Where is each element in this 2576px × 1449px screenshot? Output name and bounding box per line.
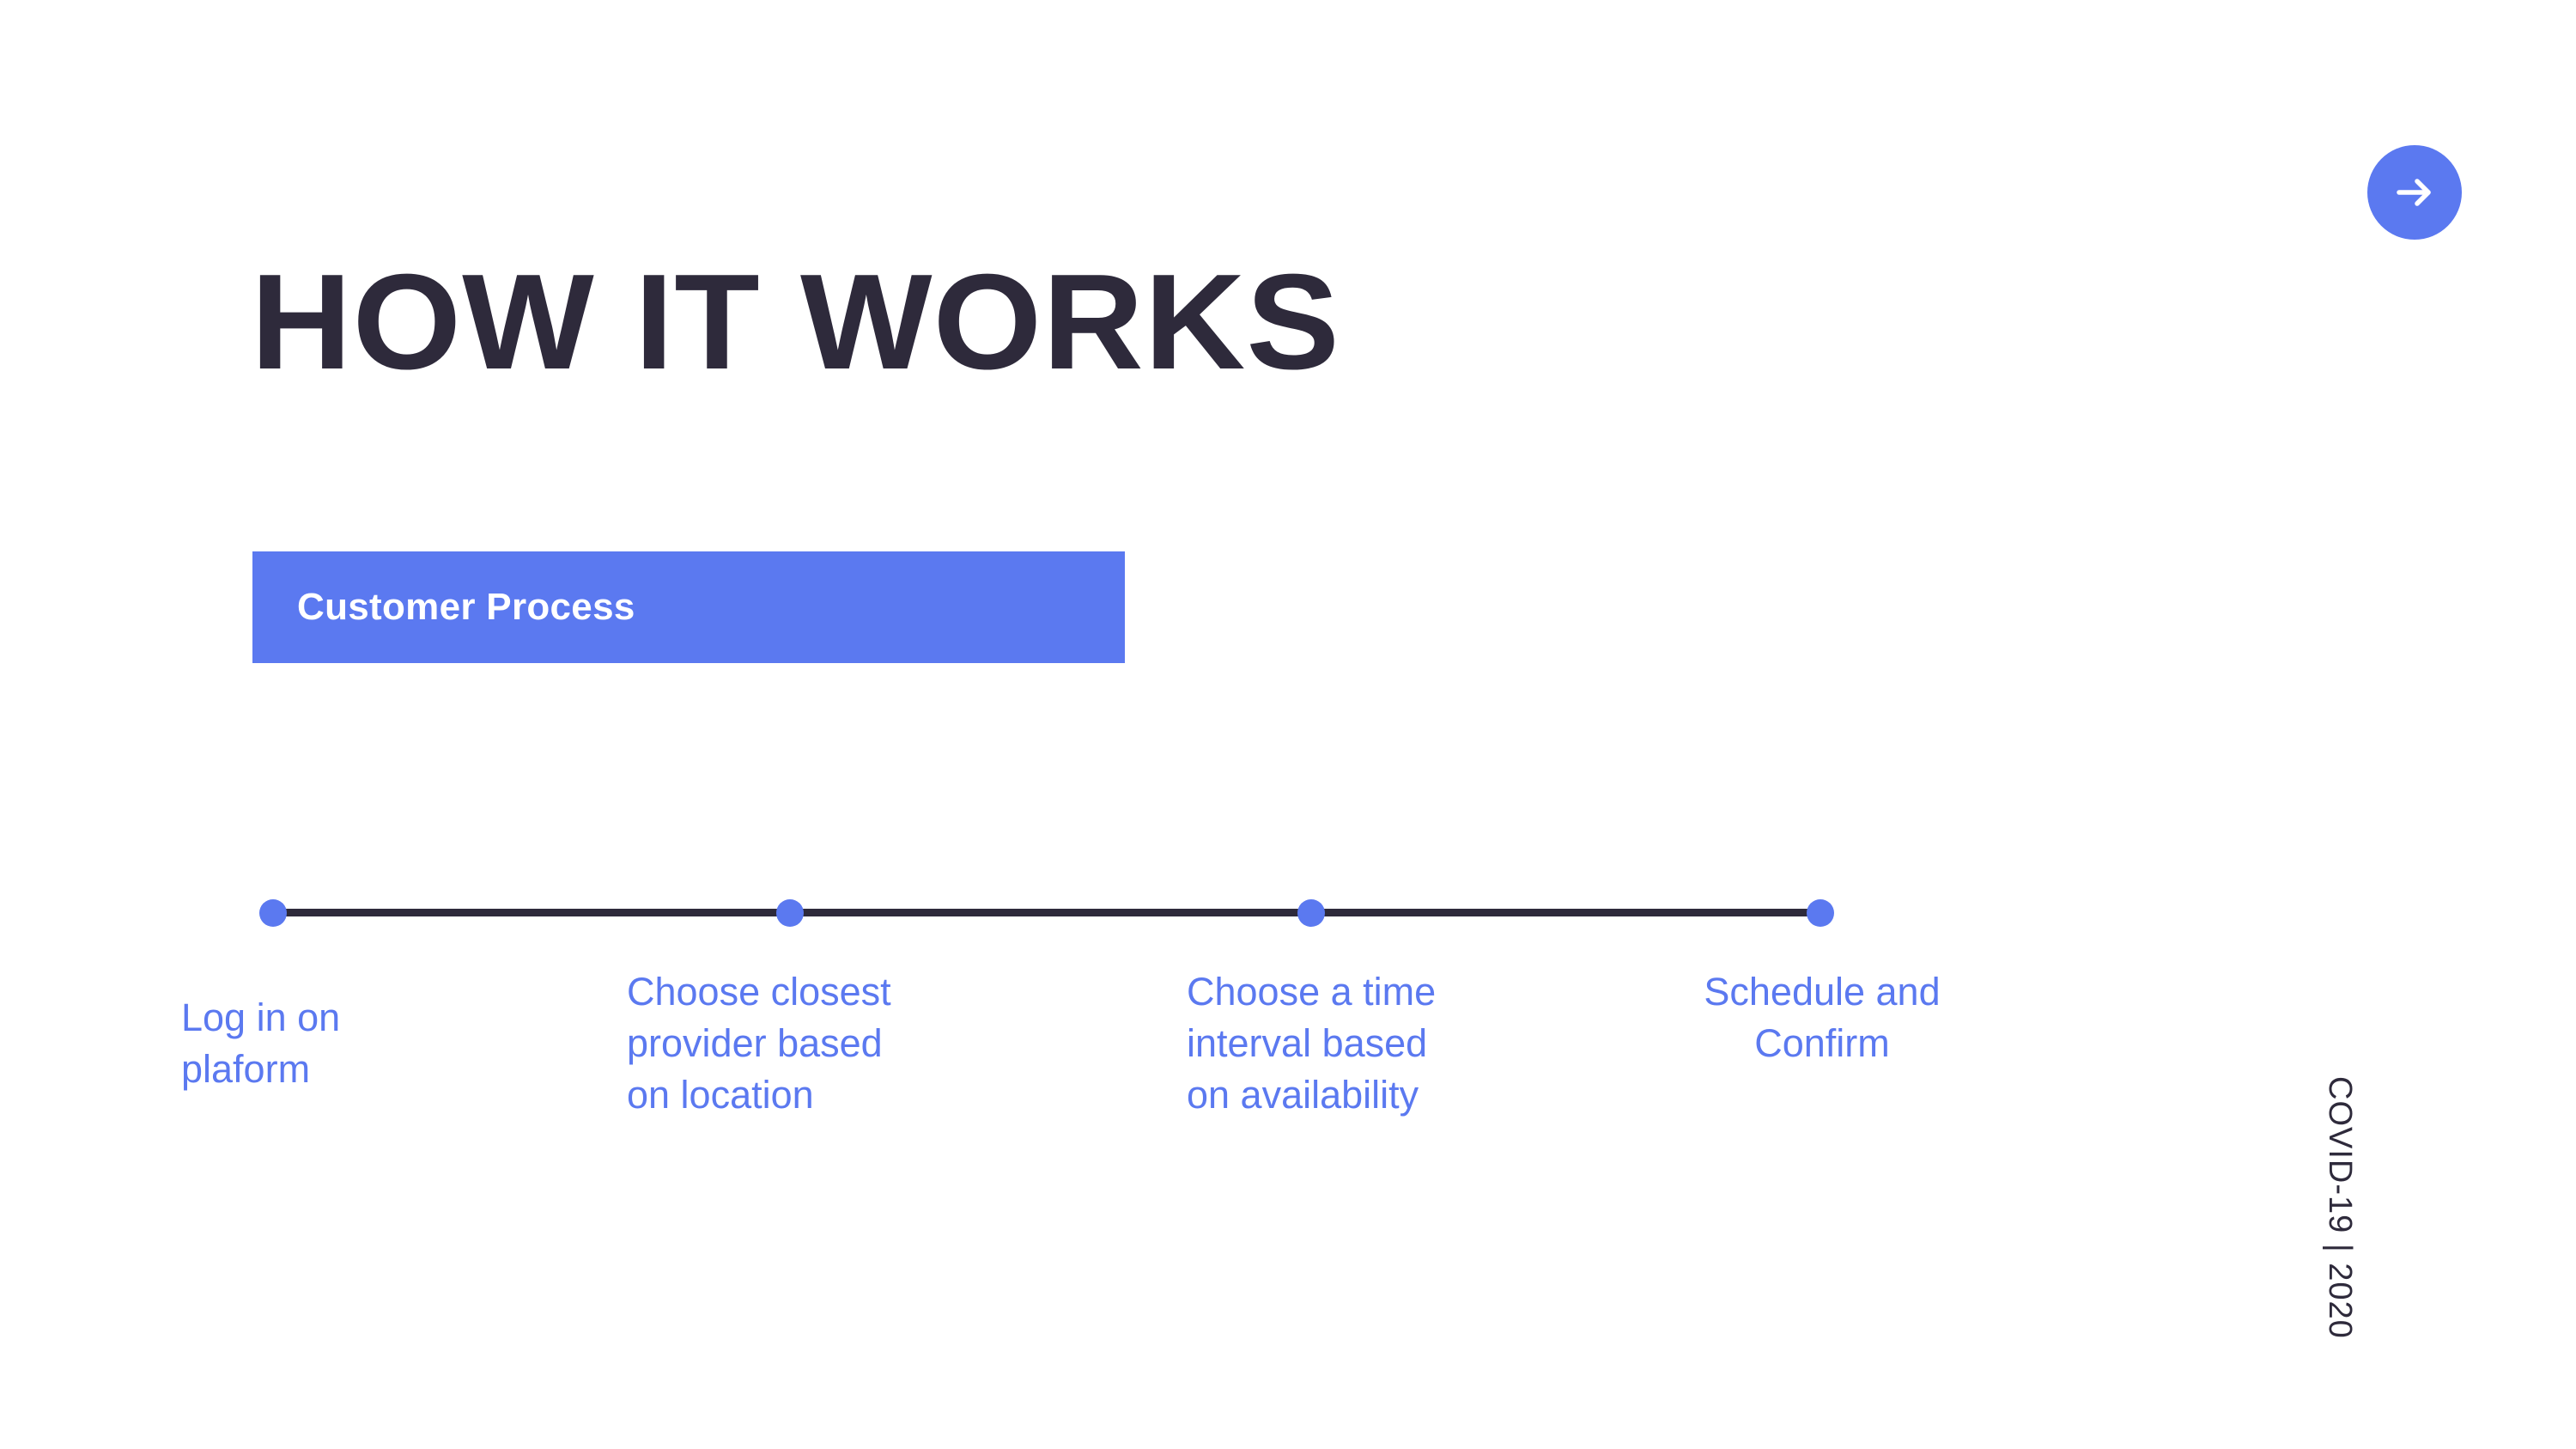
timeline-dot-step-1[interactable] (259, 899, 287, 927)
timeline-label-step-4: Schedule and Confirm (1659, 966, 1985, 1069)
next-slide-button[interactable] (2367, 145, 2462, 240)
section-banner-label: Customer Process (297, 586, 635, 629)
timeline-label-step-3: Choose a time interval based on availabi… (1187, 966, 1530, 1121)
slide-canvas: HOW IT WORKS Customer Process Log in on … (0, 0, 2576, 1449)
timeline-track (273, 909, 1820, 916)
timeline-label-step-2: Choose closest provider based on locatio… (627, 966, 970, 1121)
timeline-dot-step-4[interactable] (1807, 899, 1834, 927)
section-banner: Customer Process (252, 551, 1125, 663)
timeline-dot-step-2[interactable] (776, 899, 804, 927)
arrow-right-icon (2392, 170, 2437, 215)
process-timeline: Log in on plaform Choose closest provide… (0, 0, 2576, 1449)
page-title: HOW IT WORKS (251, 254, 1340, 390)
timeline-dot-step-3[interactable] (1297, 899, 1325, 927)
timeline-label-step-1: Log in on plaform (181, 992, 490, 1095)
footer-vertical-note: COVID-19 | 2020 (2321, 1076, 2358, 1339)
